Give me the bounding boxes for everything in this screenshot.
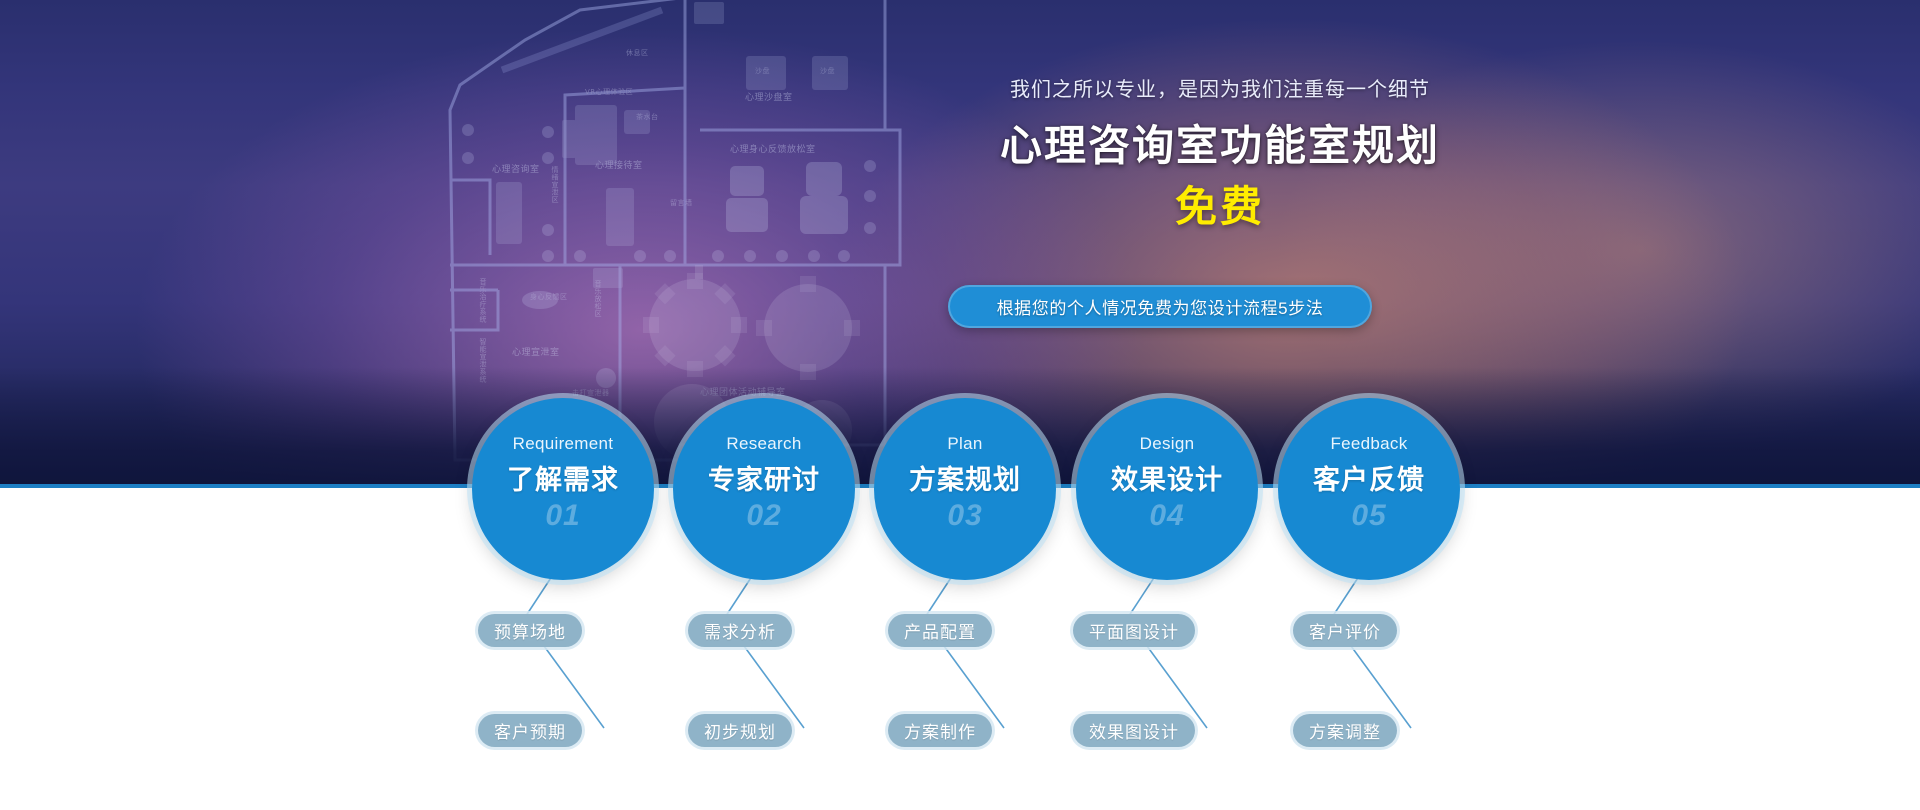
step-number: 05 — [1351, 499, 1386, 533]
step-english-label: Plan — [947, 434, 982, 454]
step-circle-2[interactable]: Research 专家研讨 02 — [673, 398, 855, 580]
step-tag-1a[interactable]: 预算场地 — [478, 614, 582, 647]
step-circle-5[interactable]: Feedback 客户反馈 05 — [1278, 398, 1460, 580]
step-number: 02 — [746, 499, 781, 533]
step-english-label: Requirement — [513, 434, 614, 454]
step-circle-4[interactable]: Design 效果设计 04 — [1076, 398, 1258, 580]
process-steps: Requirement 了解需求 01 预算场地 客户预期 Research 专… — [0, 0, 1920, 810]
step-tag-4a[interactable]: 平面图设计 — [1073, 614, 1195, 647]
step-english-label: Design — [1140, 434, 1195, 454]
step-chinese-label: 方案规划 — [909, 458, 1021, 497]
step-english-label: Research — [726, 434, 801, 454]
step-tag-2a[interactable]: 需求分析 — [688, 614, 792, 647]
banner-stage: 心理接待室 心理咨询室 心理沙盘室 心理身心反馈放松室 心理宣泄室 心理团体活动… — [0, 0, 1920, 810]
step-tag-3a[interactable]: 产品配置 — [888, 614, 992, 647]
step-number: 04 — [1149, 499, 1184, 533]
step-tag-5b[interactable]: 方案调整 — [1293, 714, 1397, 747]
step-tag-4b[interactable]: 效果图设计 — [1073, 714, 1195, 747]
step-tag-5a[interactable]: 客户评价 — [1293, 614, 1397, 647]
step-chinese-label: 客户反馈 — [1313, 458, 1425, 497]
step-tag-2b[interactable]: 初步规划 — [688, 714, 792, 747]
step-number: 03 — [947, 499, 982, 533]
step-circle-1[interactable]: Requirement 了解需求 01 — [472, 398, 654, 580]
step-number: 01 — [545, 499, 580, 533]
step-tag-1b[interactable]: 客户预期 — [478, 714, 582, 747]
step-tag-3b[interactable]: 方案制作 — [888, 714, 992, 747]
step-chinese-label: 效果设计 — [1111, 458, 1223, 497]
step-english-label: Feedback — [1330, 434, 1407, 454]
step-circle-3[interactable]: Plan 方案规划 03 — [874, 398, 1056, 580]
step-chinese-label: 了解需求 — [507, 458, 619, 497]
step-chinese-label: 专家研讨 — [708, 458, 820, 497]
